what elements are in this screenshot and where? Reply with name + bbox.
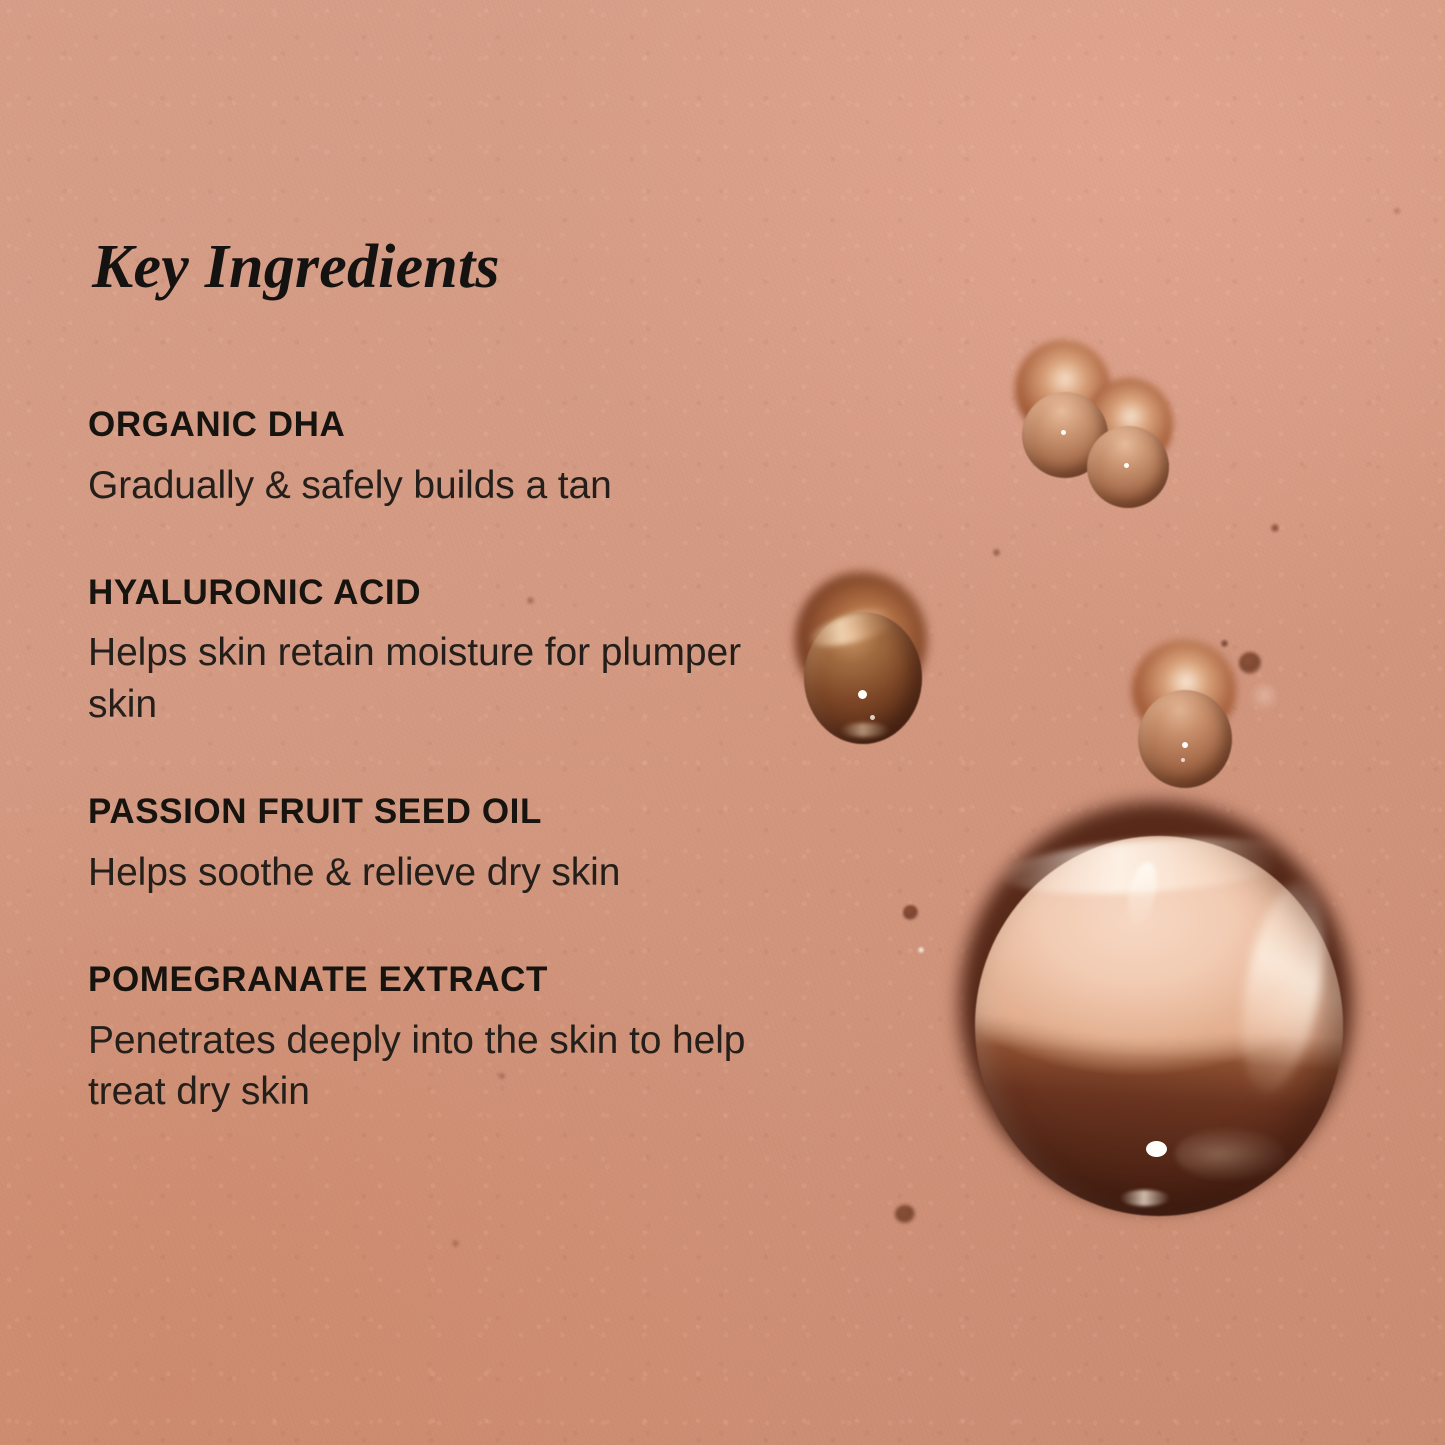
ingredient-item-pomegranate-extract: POMEGRANATE EXTRACT Penetrates deeply in… — [88, 961, 918, 1119]
droplet-small-upper-left-specular — [1061, 430, 1066, 435]
droplet-large-specular — [1146, 1141, 1167, 1157]
ingredient-description: Gradually & safely builds a tan — [88, 460, 848, 512]
droplet-large-lower-glint — [1175, 1128, 1285, 1180]
droplet-medium-left-specular-small — [870, 715, 875, 720]
page-title: Key Ingredients — [92, 236, 918, 298]
ingredient-item-hyaluronic-acid: HYALURONIC ACID Helps skin retain moistu… — [88, 574, 918, 732]
droplet-medium-right-specular-small — [1181, 758, 1185, 762]
speck-ghost-droplet — [1248, 682, 1278, 716]
ingredient-item-organic-dha: ORGANIC DHA Gradually & safely builds a … — [88, 406, 918, 512]
speck-dust-3 — [1220, 639, 1229, 648]
ingredient-name: ORGANIC DHA — [88, 406, 918, 444]
ingredient-name: POMEGRANATE EXTRACT — [88, 961, 918, 999]
speck-dust-5 — [1270, 523, 1280, 533]
droplet-large-bottom-glint — [1120, 1190, 1170, 1206]
speck-dust-2 — [917, 946, 925, 954]
ingredient-item-passion-fruit-seed-oil: PASSION FRUIT SEED OIL Helps soothe & re… — [88, 793, 918, 899]
ingredient-name: PASSION FRUIT SEED OIL — [88, 793, 918, 831]
ingredient-description: Penetrates deeply into the skin to help … — [88, 1015, 828, 1119]
ingredient-name: HYALURONIC ACID — [88, 574, 918, 612]
droplet-medium-left-specular — [858, 690, 867, 699]
speck-dust-11 — [1393, 207, 1401, 215]
ingredient-panel: Key Ingredients ORGANIC DHA Gradually & … — [0, 0, 1445, 1445]
droplet-small-upper-right-specular — [1124, 463, 1129, 468]
droplet-medium-right — [1138, 690, 1232, 788]
speck-dust-10 — [451, 1239, 460, 1248]
ingredients-text-column: Key Ingredients ORGANIC DHA Gradually & … — [88, 236, 918, 1118]
ingredient-description: Helps soothe & relieve dry skin — [88, 847, 848, 899]
speck-dust-7 — [895, 1205, 915, 1223]
droplet-medium-right-specular — [1182, 742, 1188, 748]
ingredient-description: Helps skin retain moisture for plumper s… — [88, 627, 748, 731]
speck-dust-6 — [992, 548, 1001, 557]
speck-dust-4 — [1239, 652, 1261, 674]
